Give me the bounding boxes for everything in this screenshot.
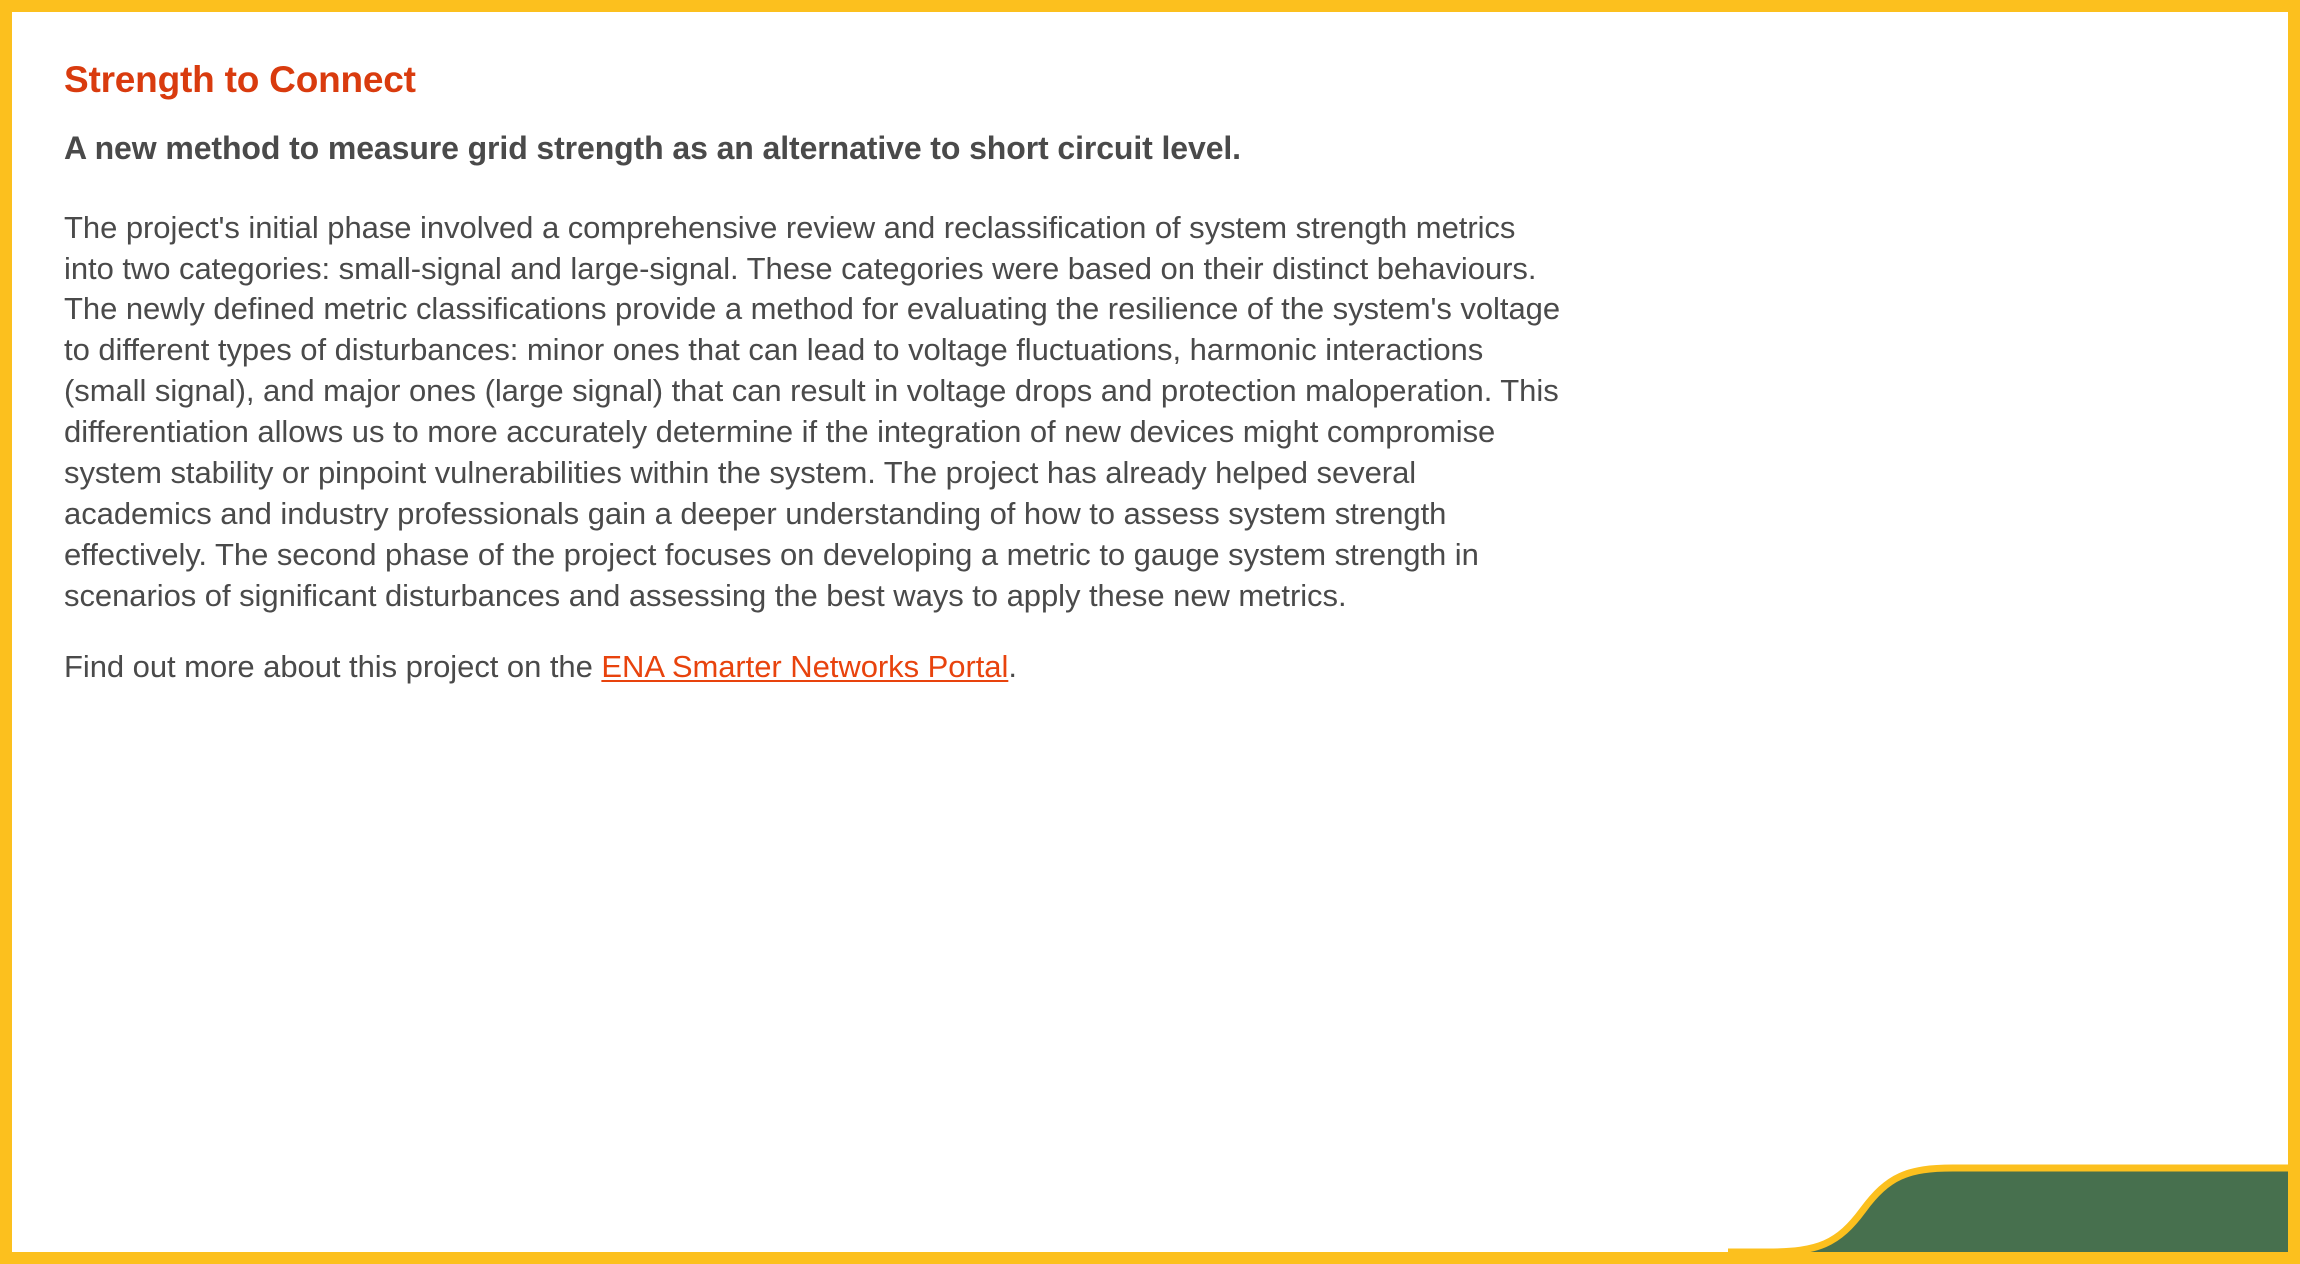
- footer-paragraph: Find out more about this project on the …: [64, 647, 2232, 688]
- strength-to-connect-card: Strength to Connect A new method to meas…: [0, 0, 2300, 1264]
- swoosh-fill: [1728, 1168, 2288, 1252]
- subtitle: A new method to measure grid strength as…: [64, 128, 2232, 168]
- swoosh-stroke: [1728, 1168, 2288, 1252]
- body-paragraph: The project's initial phase involved a c…: [64, 208, 1564, 617]
- ena-smarter-networks-portal-link[interactable]: ENA Smarter Networks Portal: [601, 649, 1008, 684]
- footer-suffix-text: .: [1008, 649, 1017, 684]
- card-content: Strength to Connect A new method to meas…: [12, 12, 2288, 688]
- corner-swoosh-decoration: [1728, 1122, 2288, 1252]
- footer-prefix-text: Find out more about this project on the: [64, 649, 601, 684]
- page-title: Strength to Connect: [64, 58, 2232, 102]
